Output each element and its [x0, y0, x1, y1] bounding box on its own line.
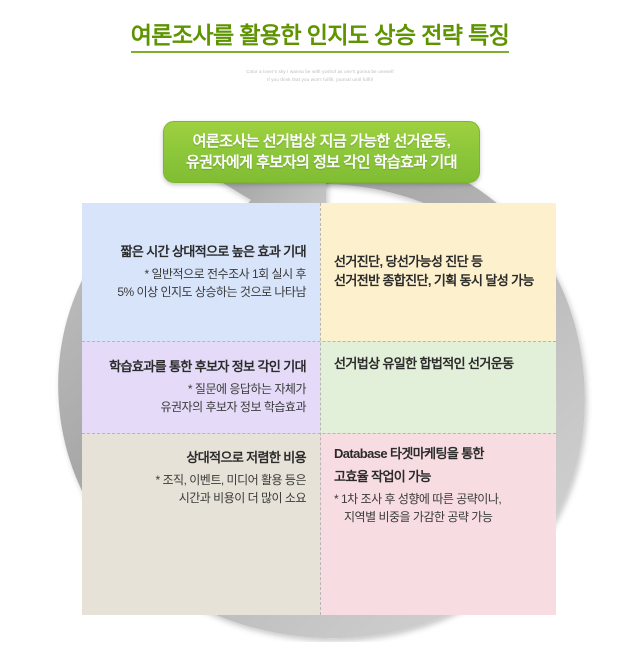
page-subtitle-line-2: If you think that you won't fulfill, jou…: [0, 76, 640, 84]
cell-body-line: 지역별 비중을 가감한 공략 가능: [334, 508, 492, 526]
page-title: 여론조사를 활용한 인지도 상승 전략 특징: [131, 22, 509, 53]
cell-body-line: * 일반적으로 전수조사 1회 실시 후: [144, 265, 306, 283]
callout-line-2: 유권자에게 후보자의 정보 각인 학습효과 기대: [186, 152, 457, 173]
callout-text: 여론조사는 선거법상 지금 가능한 선거운동, 유권자에게 후보자의 정보 각인…: [186, 131, 457, 174]
grid-cell-only-legal-campaign: 선거법상 유일한 합법적인 선거운동: [320, 341, 556, 433]
cell-heading-secondary: 고효율 작업이 가능: [334, 468, 431, 487]
cell-heading: 학습효과를 통한 후보자 정보 각인 기대: [109, 358, 306, 377]
grid-cell-learning-effect: 학습효과를 통한 후보자 정보 각인 기대 * 질문에 응답하는 자체가 유권자…: [82, 341, 320, 433]
page-subtitle: Color a lover's sky I wanna be with yosh…: [0, 68, 640, 85]
cell-body-line: 유권자의 후보자 정보 학습효과: [160, 398, 306, 416]
page-title-wrapper: 여론조사를 활용한 인지도 상승 전략 특징: [0, 22, 640, 53]
infographic-canvas: 여론조사를 활용한 인지도 상승 전략 특징 Color a lover's s…: [0, 0, 640, 667]
cell-body-line: * 조직, 이벤트, 미디어 활용 등은: [156, 471, 307, 489]
cell-body-line: 선거법상 유일한 합법적인 선거운동: [334, 355, 513, 374]
grid-cell-short-time-high-effect: 짧은 시간 상대적으로 높은 효과 기대 * 일반적으로 전수조사 1회 실시 …: [82, 203, 320, 341]
page-subtitle-line-1: Color a lover's sky I wanna be with yosh…: [0, 68, 640, 76]
callout-box: 여론조사는 선거법상 지금 가능한 선거운동, 유권자에게 후보자의 정보 각인…: [163, 121, 480, 183]
cell-body-line: 시간과 비용이 더 많이 소요: [179, 489, 306, 507]
cell-body-line: * 질문에 응답하는 자체가: [188, 380, 306, 398]
grid-divider-vertical: [320, 203, 321, 615]
cell-heading: 짧은 시간 상대적으로 높은 효과 기대: [121, 243, 306, 262]
callout-line-1: 여론조사는 선거법상 지금 가능한 선거운동,: [186, 131, 457, 152]
cell-body-line: 5% 이상 인지도 상승하는 것으로 나타남: [117, 283, 306, 301]
grid-cell-election-diagnosis: 선거진단, 당선가능성 진단 등 선거전반 종합진단, 기획 동시 달성 가능: [320, 203, 556, 341]
cell-body-line: 선거진단, 당선가능성 진단 등: [334, 253, 482, 272]
grid-divider-horizontal-1: [82, 341, 556, 342]
cell-heading: 상대적으로 저렴한 비용: [186, 449, 306, 468]
cell-body-line: 선거전반 종합진단, 기획 동시 달성 가능: [334, 272, 534, 291]
feature-grid: 짧은 시간 상대적으로 높은 효과 기대 * 일반적으로 전수조사 1회 실시 …: [82, 203, 556, 615]
cell-body-line: * 1차 조사 후 성향에 따른 공략이나,: [334, 490, 501, 508]
cell-heading: Database 타겟마케팅을 통한: [334, 445, 484, 464]
grid-cell-low-cost: 상대적으로 저렴한 비용 * 조직, 이벤트, 미디어 활용 등은 시간과 비용…: [82, 433, 320, 615]
grid-cell-database-targeting: Database 타겟마케팅을 통한 고효율 작업이 가능 * 1차 조사 후 …: [320, 433, 556, 615]
grid-divider-horizontal-2: [82, 433, 556, 434]
